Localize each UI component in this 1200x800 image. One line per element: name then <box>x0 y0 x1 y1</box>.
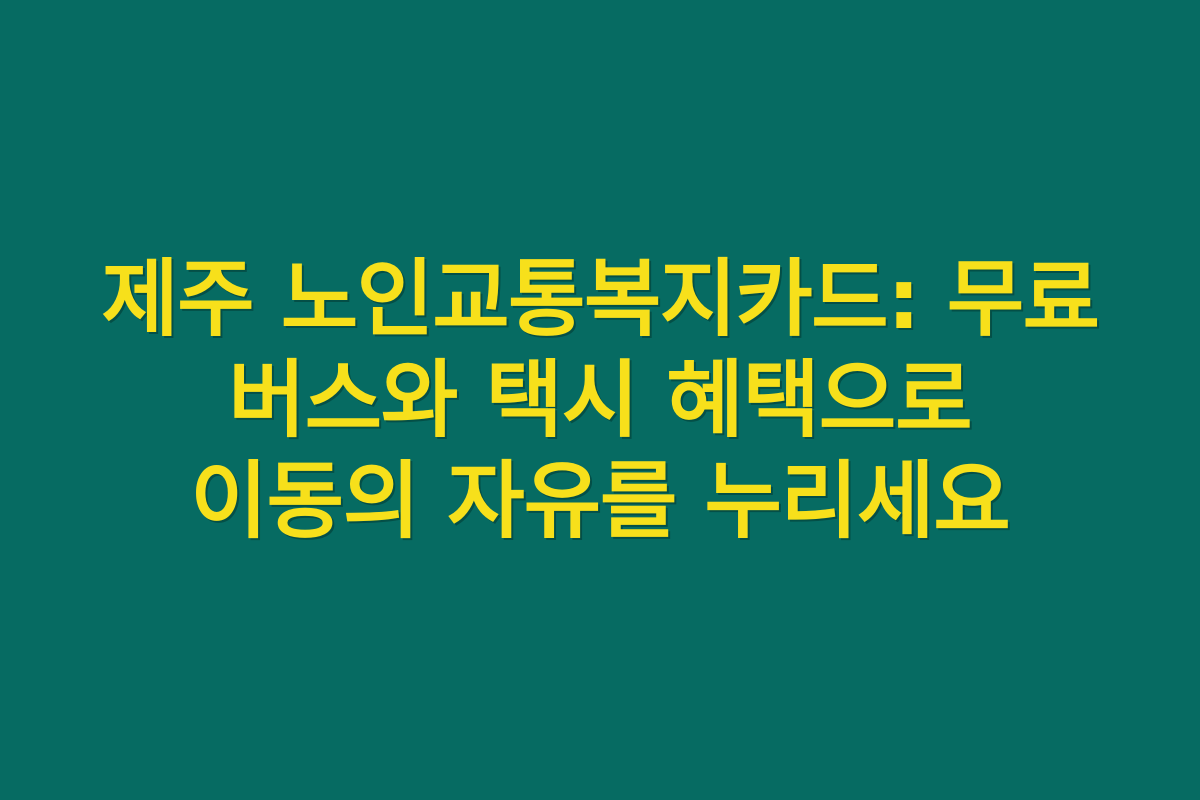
headline-line-1: 제주 노인교통복지카드: 무료 <box>25 249 1175 350</box>
page-title: 제주 노인교통복지카드: 무료 버스와 택시 혜택으로 이동의 자유를 누리세요 <box>25 249 1175 552</box>
headline-line-2: 버스와 택시 혜택으로 <box>25 350 1175 451</box>
headline-line-3: 이동의 자유를 누리세요 <box>25 451 1175 552</box>
banner-canvas: 제주 노인교통복지카드: 무료 버스와 택시 혜택으로 이동의 자유를 누리세요 <box>0 0 1200 800</box>
